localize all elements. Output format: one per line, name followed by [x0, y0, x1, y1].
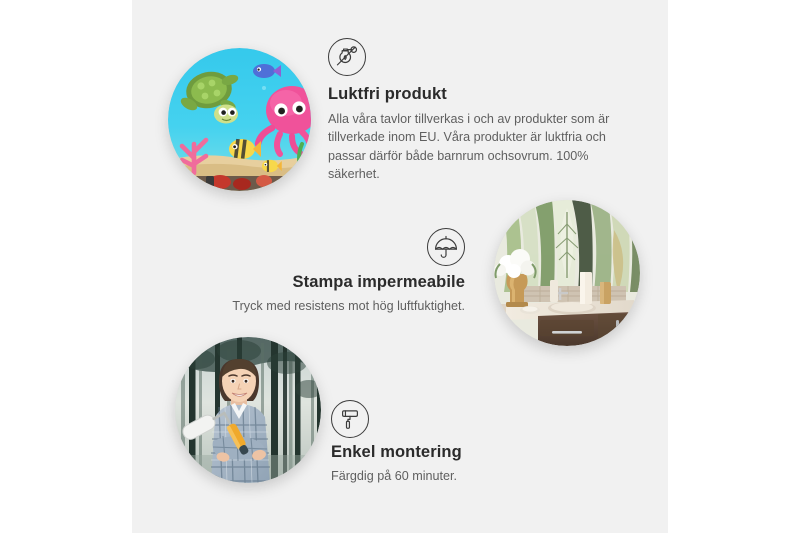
feature-assembly-title: Enkel montering: [331, 442, 591, 463]
feature-assembly-text: Enkel montering Färgdig på 60 minuter.: [331, 442, 591, 485]
no-fragrance-icon: [328, 38, 366, 76]
feature-odourless-text: Luktfri produkt Alla våra tavlor tillver…: [328, 84, 628, 184]
paint-roller-icon: [331, 400, 369, 438]
feature-waterproof-description: Tryck med resistens mot hög luftfuktighe…: [135, 297, 465, 316]
umbrella-icon: [427, 228, 465, 266]
decorator-forest-photo[interactable]: [175, 337, 321, 483]
feature-waterproof-title: Stampa impermeabile: [135, 272, 465, 293]
feature-odourless-title: Luktfri produkt: [328, 84, 628, 105]
bathroom-interior-illustration: [494, 200, 640, 346]
feature-odourless-description: Alla våra tavlor tillverkas i och av pro…: [328, 110, 628, 184]
underwater-scene-illustration: [168, 48, 311, 191]
feature-assembly-description: Färgdig på 60 minuter.: [331, 467, 591, 486]
feature-waterproof-text: Stampa impermeabile Tryck med resistens …: [135, 272, 465, 315]
underwater-scene-photo[interactable]: [168, 48, 311, 191]
decorator-forest-illustration: [175, 337, 321, 483]
bathroom-interior-photo[interactable]: [494, 200, 640, 346]
screenshot-canvas: Luktfri produkt Alla våra tavlor tillver…: [0, 0, 800, 533]
